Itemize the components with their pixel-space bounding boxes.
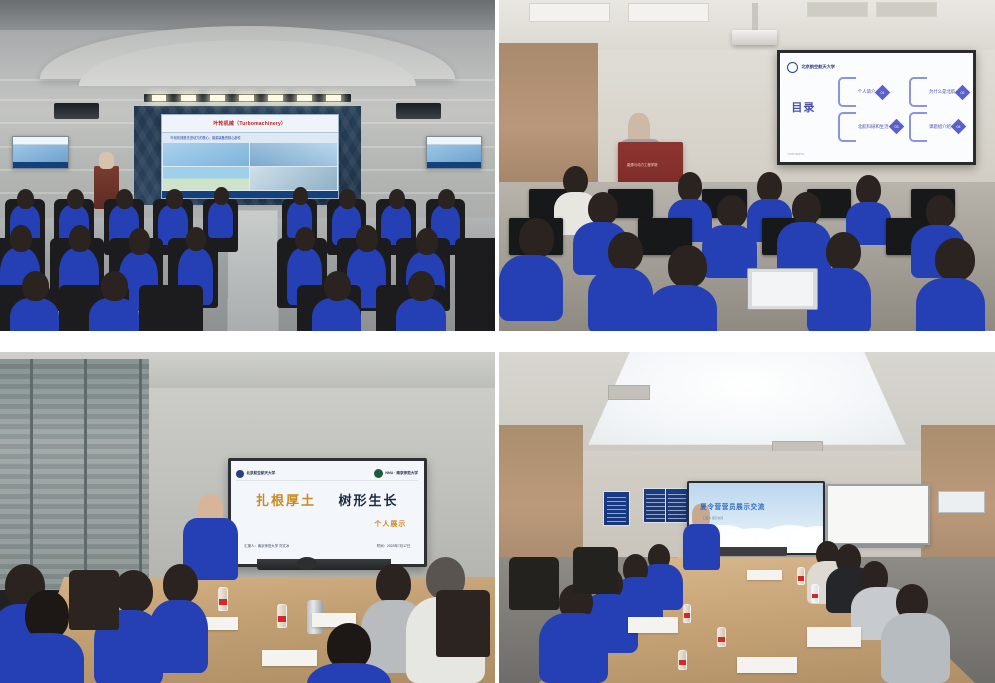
slide-reporter: 汇报人：南京师范大学 刘文冰: [244, 543, 289, 548]
wall-poster: [603, 491, 630, 526]
photo-panel-classroom-lecture: 北京航空航天大学 目录 个人简介 01 为什么是北航 02: [499, 0, 995, 331]
item-number-badge: 01: [875, 84, 891, 100]
bracket-icon: [909, 77, 927, 107]
wall-speaker-left: [54, 103, 99, 120]
slide-date: 时间：2023年7月17日: [377, 543, 411, 548]
slide-main-title: 扎根厚土 树形生长: [231, 490, 424, 509]
university-seal-icon: [787, 62, 798, 73]
main-projection-screen: 叶轮机械（Turbomachinery） 叶轮机械是先进动力的核心、能源装备的核…: [161, 114, 339, 199]
water-bottle: [218, 587, 228, 611]
door-sign: [938, 491, 985, 513]
slide-page-note: CONTENTS: [787, 152, 804, 156]
contents-item: 个人简介 01: [838, 77, 902, 108]
slide-image-grid: [162, 142, 338, 191]
logo-left: 北京航空航天大学: [236, 470, 275, 478]
slide-heading: 目录: [791, 99, 815, 115]
bracket-icon: [909, 112, 927, 142]
logo-right: NNU · 南京师范大学: [374, 469, 418, 478]
side-monitor-right: [426, 136, 482, 169]
item-number-badge: 03: [888, 119, 904, 135]
slide-university-logo: 北京航空航天大学: [787, 60, 853, 74]
slide-contents-list: 个人简介 01 为什么是北航 02 北航科研和生活 03: [838, 77, 962, 143]
water-bottle: [811, 584, 819, 603]
photo-panel-boardroom-exchange: 夏令营营员展示交流 汇报人 展示交流: [499, 352, 995, 683]
water-bottle: [277, 604, 287, 628]
open-laptop: [747, 268, 818, 310]
item-number-badge: 02: [955, 84, 971, 100]
water-bottle: [797, 567, 805, 585]
photo-collage: 叶轮机械（Turbomachinery） 叶轮机械是先进动力的核心、能源装备的核…: [0, 0, 995, 683]
presenter-body: [683, 524, 720, 570]
slide-title: 叶轮机械（Turbomachinery）: [162, 115, 338, 133]
contents-item: 北航科研和生活 03: [838, 111, 902, 142]
photo-panel-meeting-room-presentation: 北京航空航天大学 NNU · 南京师范大学 扎根厚土 树形生长 个人展示 汇报人…: [0, 352, 495, 683]
nnu-seal-icon: [374, 469, 383, 478]
contents-item: 为什么是北航 02: [909, 77, 968, 108]
slide-subtitle: 汇报人 展示交流: [703, 516, 723, 520]
wall-speaker-right: [396, 103, 441, 120]
speaker-figure: [99, 152, 114, 169]
display-soundbar: [717, 547, 786, 555]
photo-panel-auditorium-lecture: 叶轮机械（Turbomachinery） 叶轮机械是先进动力的核心、能源装备的核…: [0, 0, 495, 331]
wall-display: 北京航空航天大学 NNU · 南京师范大学 扎根厚土 树形生长 个人展示 汇报人…: [228, 458, 427, 567]
whiteboard: [826, 484, 929, 544]
stage-light-bar: [144, 94, 352, 102]
projector-mount: [752, 3, 758, 33]
slide-subtitle: 个人展示: [374, 519, 406, 529]
water-bottle: [683, 604, 691, 623]
slide-bullet: 叶轮机械是先进动力的核心、能源装备的核心部件: [162, 133, 338, 142]
wall-poster: [665, 488, 689, 523]
contents-item: 课题组介绍 04: [909, 111, 968, 142]
item-number-badge: 04: [951, 119, 967, 135]
display-soundbar: [257, 559, 391, 571]
slide-footer: 汇报人：南京师范大学 刘文冰 时间：2023年7月17日: [244, 543, 410, 548]
air-vent: [608, 385, 650, 400]
water-bottle: [717, 627, 726, 647]
bracket-icon: [838, 112, 856, 142]
ceiling-projector: [732, 30, 777, 45]
university-seal-icon: [236, 470, 244, 478]
slide-title: 夏令营营员展示交流: [700, 501, 765, 511]
slide-logo-row: 北京航空航天大学 NNU · 南京师范大学: [236, 467, 417, 481]
slide-footer-bar: [162, 191, 338, 198]
classroom-projection-screen: 北京航空航天大学 目录 个人简介 01 为什么是北航 02: [777, 50, 976, 165]
bracket-icon: [838, 77, 856, 107]
auditorium-ceiling: [0, 0, 495, 30]
water-bottle: [678, 650, 687, 670]
side-monitor-left: [12, 136, 68, 169]
glass-partition: [0, 359, 149, 591]
